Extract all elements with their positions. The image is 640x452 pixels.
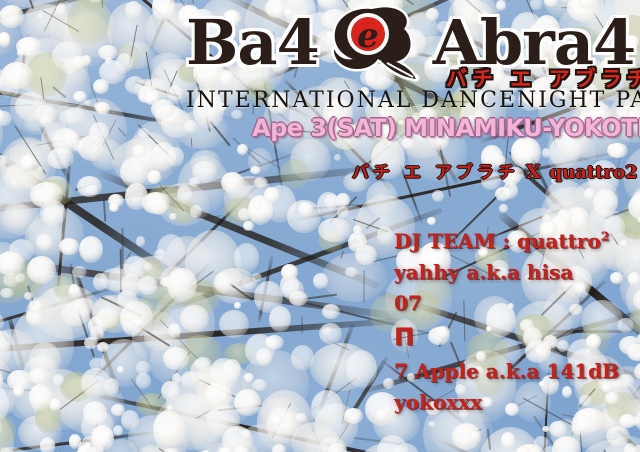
dj-team-heading: DJ TEAM : quattro2	[394, 226, 640, 257]
date-venue-text: Ape 3(SAT) MINAMIKU-YOKOTE	[252, 114, 640, 142]
subline-katakana: バチ エ アブラチ	[352, 158, 519, 183]
flyer-canvas: Ba4 e	[0, 0, 640, 452]
graphic-overlay: Ba4 e	[0, 0, 640, 452]
subline-crew-name: quattro	[550, 162, 625, 183]
tagline-text: INTERNATIONAL DANCENIGHT PARTY	[186, 88, 638, 113]
subline-row: バチ エ アブラチ X quattro2	[352, 158, 638, 183]
subline-separator: X	[526, 161, 541, 183]
rose-emblem-icon: e	[321, 3, 425, 83]
logo-word-left: Ba4	[186, 12, 319, 74]
dj-name-1: yahhy a.k.a hisa	[394, 257, 640, 288]
dj-name-2: 07	[394, 288, 640, 319]
dj-name-5: yokoxxx	[394, 387, 640, 418]
dj-team-block: DJ TEAM : quattro2 yahhy a.k.a hisa 07 П…	[394, 226, 640, 418]
dj-team-heading-label: DJ TEAM : quattro	[394, 229, 601, 253]
dj-name-3: П	[394, 319, 640, 356]
rose-center-letter: e	[357, 16, 379, 56]
dj-name-4: 7 Apple a.k.a 141dB	[394, 356, 640, 387]
dj-team-heading-superscript: 2	[601, 228, 610, 243]
